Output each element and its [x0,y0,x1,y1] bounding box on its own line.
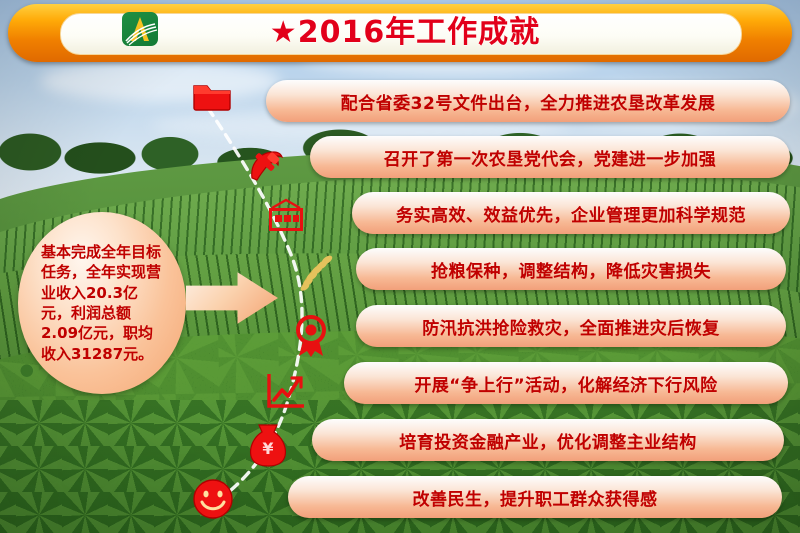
money-bag-icon: ¥ [246,422,290,468]
achievement-pill[interactable]: 抢粮保种，调整结构，降低灾害损失 [356,248,786,290]
rising-chart-icon [264,370,308,412]
achievement-pill[interactable]: 开展“争上行”活动，化解经济下行风险 [344,362,788,404]
svg-text:¥: ¥ [262,439,273,458]
smiley-icon [192,478,234,520]
achievement-pill[interactable]: 培育投资金融产业，优化调整主业结构 [312,419,784,461]
summary-text: 基本完成全年目标任务，全年实现营业收入20.3亿元，利润总额2.09亿元，职均收… [41,242,163,364]
achievement-pill[interactable]: 召开了第一次农垦党代会，党建进一步加强 [310,136,790,178]
medal-icon [290,314,332,358]
factory-icon [266,198,306,232]
folder-icon [192,80,232,112]
achievement-pill[interactable]: 改善民生，提升职工群众获得感 [288,476,782,518]
page-title: ★2016年工作成就 [52,9,732,49]
hammer-sickle-icon [244,142,288,186]
slide-canvas: ★2016年工作成就 基本完成全年目标任务，全年实现营业收入20.3亿元，利润总… [0,0,800,533]
summary-oval: 基本完成全年目标任务，全年实现营业收入20.3亿元，利润总额2.09亿元，职均收… [18,212,186,394]
achievement-pill[interactable]: 防汛抗洪抢险救灾，全面推进灾后恢复 [356,305,786,347]
achievement-pill[interactable]: 配合省委32号文件出台，全力推进农垦改革发展 [266,80,790,122]
achievement-pill[interactable]: 务实高效、效益优先，企业管理更加科学规范 [352,192,790,234]
wheat-icon [292,248,338,294]
